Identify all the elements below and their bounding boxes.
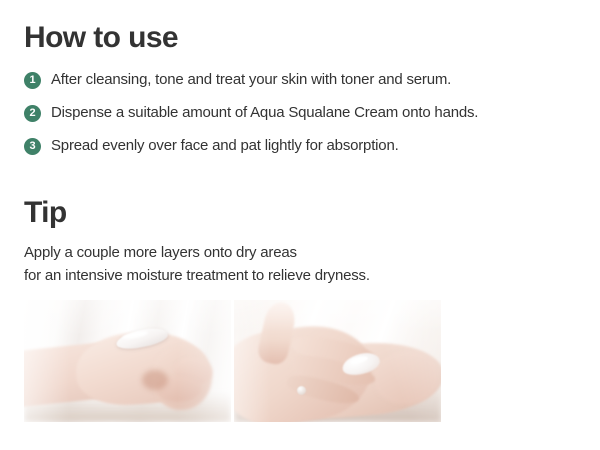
photo-strip (24, 300, 441, 422)
cream-spread-with-fingers-photo (234, 300, 441, 422)
photo-light-veil (234, 300, 441, 422)
tip-line-2: for an intensive moisture treatment to r… (24, 264, 370, 287)
step-text: Dispense a suitable amount of Aqua Squal… (51, 101, 590, 125)
step-text: After cleansing, tone and treat your ski… (51, 68, 590, 92)
how-to-use-page: How to use 1 After cleansing, tone and t… (0, 0, 600, 450)
step-number-badge: 1 (24, 72, 41, 89)
how-to-use-step-list: 1 After cleansing, tone and treat your s… (24, 68, 590, 167)
step-number-badge: 3 (24, 138, 41, 155)
list-item: 2 Dispense a suitable amount of Aqua Squ… (24, 101, 590, 134)
step-text: Spread evenly over face and pat lightly … (51, 134, 590, 158)
how-to-use-heading: How to use (24, 21, 178, 55)
tip-heading: Tip (24, 196, 67, 230)
list-item: 1 After cleansing, tone and treat your s… (24, 68, 590, 101)
photo-light-veil (24, 300, 231, 422)
tip-line-1: Apply a couple more layers onto dry area… (24, 241, 370, 264)
list-item: 3 Spread evenly over face and pat lightl… (24, 134, 590, 167)
tip-body: Apply a couple more layers onto dry area… (24, 241, 370, 287)
cream-dispensed-on-back-of-hand-photo (24, 300, 231, 422)
step-number-badge: 2 (24, 105, 41, 122)
